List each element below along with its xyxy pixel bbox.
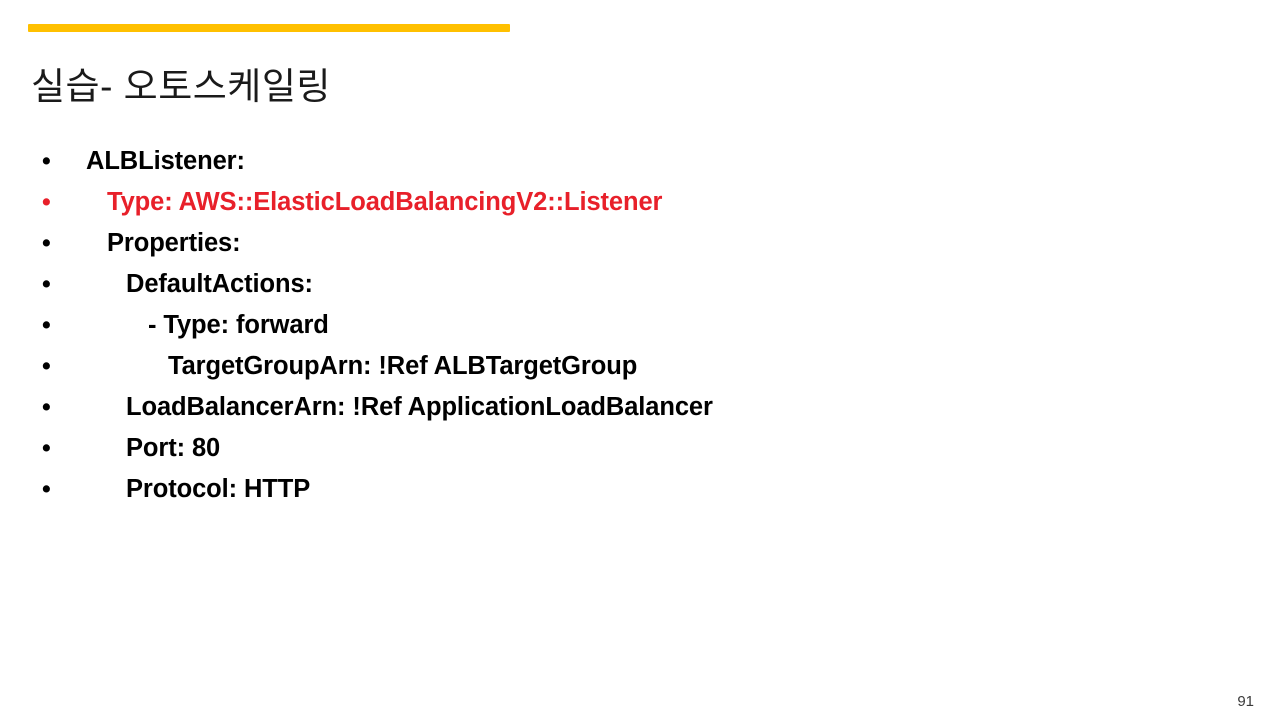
title-accent-bar <box>28 24 510 32</box>
list-item-label: LoadBalancerArn: !Ref ApplicationLoadBal… <box>86 387 1280 428</box>
list-item-label: Protocol: HTTP <box>86 469 1280 510</box>
list-item: •TargetGroupArn: !Ref ALBTargetGroup <box>0 346 1280 387</box>
bullet-point-icon: • <box>42 264 56 305</box>
slide-canvas: 실습- 오토스케일링 •ALBListener:•Type: AWS::Elas… <box>0 0 1280 720</box>
bullet-point-icon: • <box>42 141 56 182</box>
list-item: •Type: AWS::ElasticLoadBalancingV2::List… <box>0 182 1280 223</box>
list-item-label: DefaultActions: <box>86 264 1280 305</box>
list-item-label: ALBListener: <box>86 141 1280 182</box>
bullet-point-icon: • <box>42 346 56 387</box>
bullet-list: •ALBListener:•Type: AWS::ElasticLoadBala… <box>0 141 1280 510</box>
list-item: •DefaultActions: <box>0 264 1280 305</box>
list-item-label: Type: AWS::ElasticLoadBalancingV2::Liste… <box>86 182 1280 223</box>
list-item-label: Properties: <box>86 223 1280 264</box>
list-item: •LoadBalancerArn: !Ref ApplicationLoadBa… <box>0 387 1280 428</box>
list-item: •- Type: forward <box>0 305 1280 346</box>
list-item: •Protocol: HTTP <box>0 469 1280 510</box>
bullet-point-icon: • <box>42 223 56 264</box>
page-title: 실습- 오토스케일링 <box>31 63 931 111</box>
list-item-label: TargetGroupArn: !Ref ALBTargetGroup <box>86 346 1280 387</box>
bullet-point-icon: • <box>42 428 56 469</box>
list-item: •ALBListener: <box>0 141 1280 182</box>
list-item-label: Port: 80 <box>86 428 1280 469</box>
bullet-point-icon: • <box>42 387 56 428</box>
list-item-label: - Type: forward <box>86 305 1280 346</box>
bullet-point-icon: • <box>42 469 56 510</box>
bullet-point-icon: • <box>42 305 56 346</box>
page-number: 91 <box>1237 693 1254 710</box>
list-item: •Properties: <box>0 223 1280 264</box>
bullet-point-icon: • <box>42 182 56 223</box>
list-item: •Port: 80 <box>0 428 1280 469</box>
